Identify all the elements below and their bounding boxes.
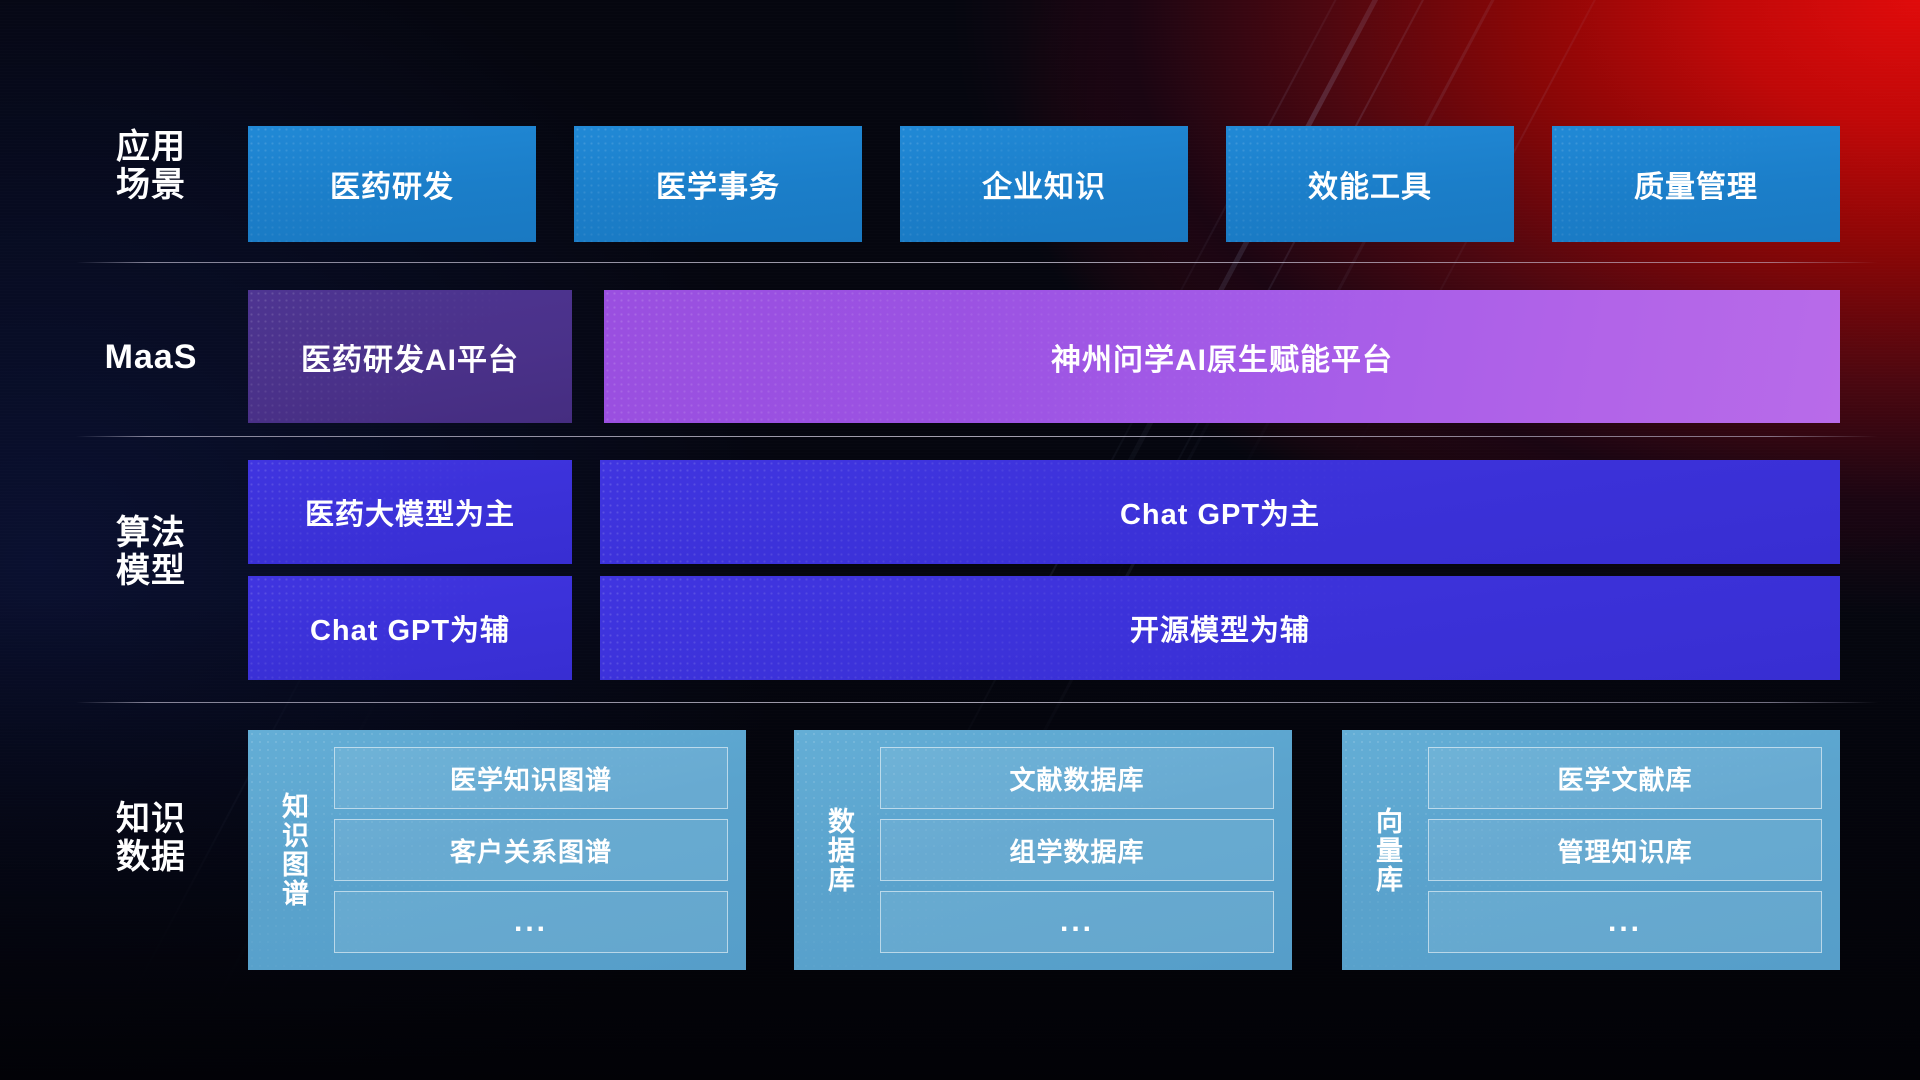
app-box-label: 医学事务 <box>656 162 780 206</box>
knowledge-item-label: 组学数据库 <box>1009 832 1144 869</box>
model-box-medicine-llm-primary[interactable]: 医药大模型为主 <box>248 460 572 564</box>
model-box-label: 开源模型为辅 <box>1130 607 1310 649</box>
app-box-label: 效能工具 <box>1308 162 1432 206</box>
knowledge-group-vector-store[interactable]: 向量库 医学文献库 管理知识库 ... <box>1342 730 1840 970</box>
maas-box-shenzhou-wenxue-platform[interactable]: 神州问学AI原生赋能平台 <box>604 290 1840 423</box>
knowledge-item-label: 管理知识库 <box>1557 832 1692 869</box>
knowledge-item[interactable]: 医学知识图谱 <box>334 747 728 809</box>
row-label-maas: MaaS <box>76 338 226 376</box>
divider-application-maas <box>76 262 1878 263</box>
app-box-efficiency-tools[interactable]: 效能工具 <box>1226 126 1514 242</box>
model-box-label: Chat GPT为辅 <box>310 607 510 649</box>
knowledge-item-label: ... <box>1060 905 1094 939</box>
knowledge-item[interactable]: 管理知识库 <box>1428 819 1822 881</box>
model-box-chatgpt-primary[interactable]: Chat GPT为主 <box>600 460 1840 564</box>
app-box-label: 质量管理 <box>1634 162 1758 206</box>
row-label-knowledge-data: 知识 数据 <box>76 800 226 876</box>
knowledge-group-title: 数据库 <box>806 742 870 958</box>
divider-model-knowledge <box>76 702 1878 703</box>
row-label-application-scenarios: 应用 场景 <box>76 128 226 204</box>
app-box-enterprise-knowledge[interactable]: 企业知识 <box>900 126 1188 242</box>
knowledge-item-more[interactable]: ... <box>334 891 728 953</box>
knowledge-item[interactable]: 组学数据库 <box>880 819 1274 881</box>
model-box-label: Chat GPT为主 <box>1120 491 1320 533</box>
architecture-diagram: 应用 场景 医药研发 医学事务 企业知识 效能工具 质量管理 MaaS 医药研发… <box>0 0 1920 1080</box>
knowledge-item-label: 医学文献库 <box>1557 760 1692 797</box>
model-box-opensource-secondary[interactable]: 开源模型为辅 <box>600 576 1840 680</box>
model-box-label: 医药大模型为主 <box>305 491 515 533</box>
knowledge-group-title: 知识图谱 <box>260 742 324 958</box>
app-box-label: 医药研发 <box>330 162 454 206</box>
knowledge-item[interactable]: 客户关系图谱 <box>334 819 728 881</box>
app-box-medical-affairs[interactable]: 医学事务 <box>574 126 862 242</box>
knowledge-group-title: 向量库 <box>1354 742 1418 958</box>
knowledge-item-more[interactable]: ... <box>880 891 1274 953</box>
app-box-label: 企业知识 <box>982 162 1106 206</box>
maas-box-medicine-ai-platform[interactable]: 医药研发AI平台 <box>248 290 572 423</box>
row-label-algorithm-model: 算法 模型 <box>76 514 226 590</box>
knowledge-item[interactable]: 文献数据库 <box>880 747 1274 809</box>
knowledge-item-label: 客户关系图谱 <box>450 832 612 869</box>
knowledge-item-label: 医学知识图谱 <box>450 760 612 797</box>
knowledge-item[interactable]: 医学文献库 <box>1428 747 1822 809</box>
knowledge-item-label: 文献数据库 <box>1009 760 1144 797</box>
app-box-medicine-rd[interactable]: 医药研发 <box>248 126 536 242</box>
knowledge-item-label: ... <box>1608 905 1642 939</box>
knowledge-group-knowledge-graph[interactable]: 知识图谱 医学知识图谱 客户关系图谱 ... <box>248 730 746 970</box>
model-box-chatgpt-secondary[interactable]: Chat GPT为辅 <box>248 576 572 680</box>
maas-box-label: 神州问学AI原生赋能平台 <box>1051 335 1393 379</box>
divider-maas-model <box>76 436 1878 437</box>
knowledge-item-label: ... <box>514 905 548 939</box>
knowledge-item-more[interactable]: ... <box>1428 891 1822 953</box>
knowledge-group-database[interactable]: 数据库 文献数据库 组学数据库 ... <box>794 730 1292 970</box>
app-box-quality-management[interactable]: 质量管理 <box>1552 126 1840 242</box>
maas-box-label: 医药研发AI平台 <box>301 335 519 379</box>
